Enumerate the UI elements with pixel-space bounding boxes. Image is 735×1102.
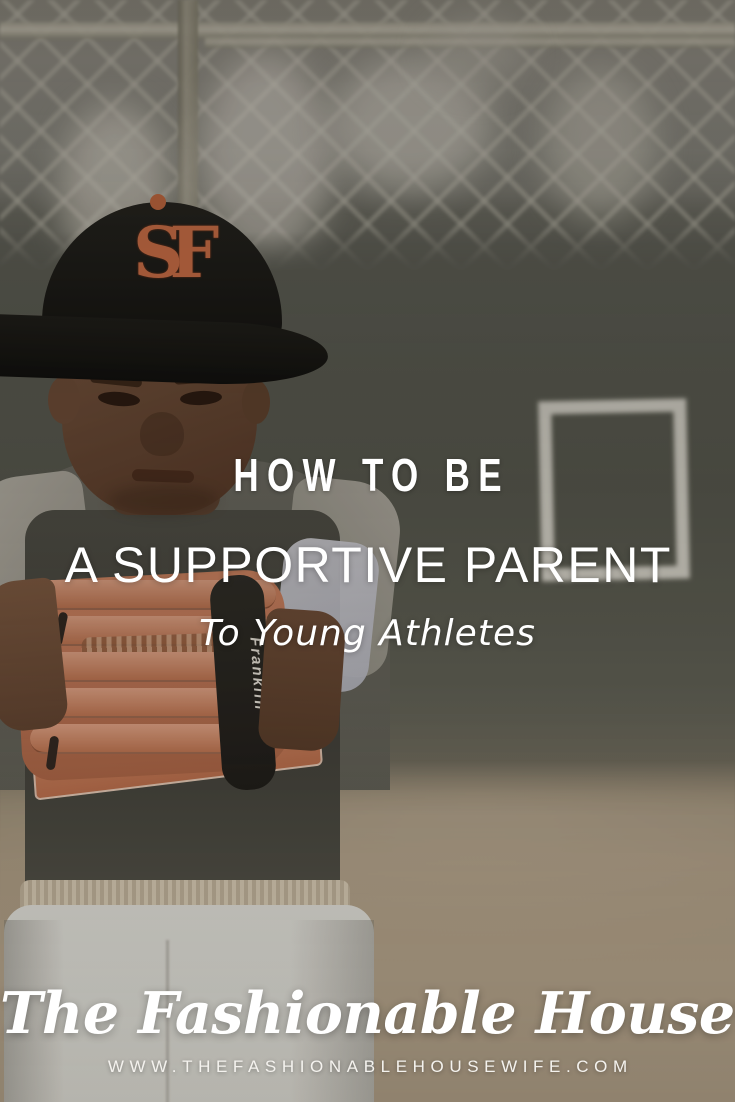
text-overlay: HOW TO BE A SUPPORTIVE PARENT To Young A… <box>0 0 735 1102</box>
pin-headline: HOW TO BE <box>88 452 647 498</box>
pinterest-pin: Lawrence GIANTS SF <box>0 0 735 1102</box>
site-url[interactable]: WWW.THEFASHIONABLEHOUSEWIFE.COM <box>0 1056 735 1078</box>
pin-subheadline: A SUPPORTIVE PARENT <box>0 540 735 590</box>
brand-wordmark: The Fashionable Housewife <box>0 983 735 1045</box>
pin-script-line: To Young Athletes <box>0 612 735 656</box>
